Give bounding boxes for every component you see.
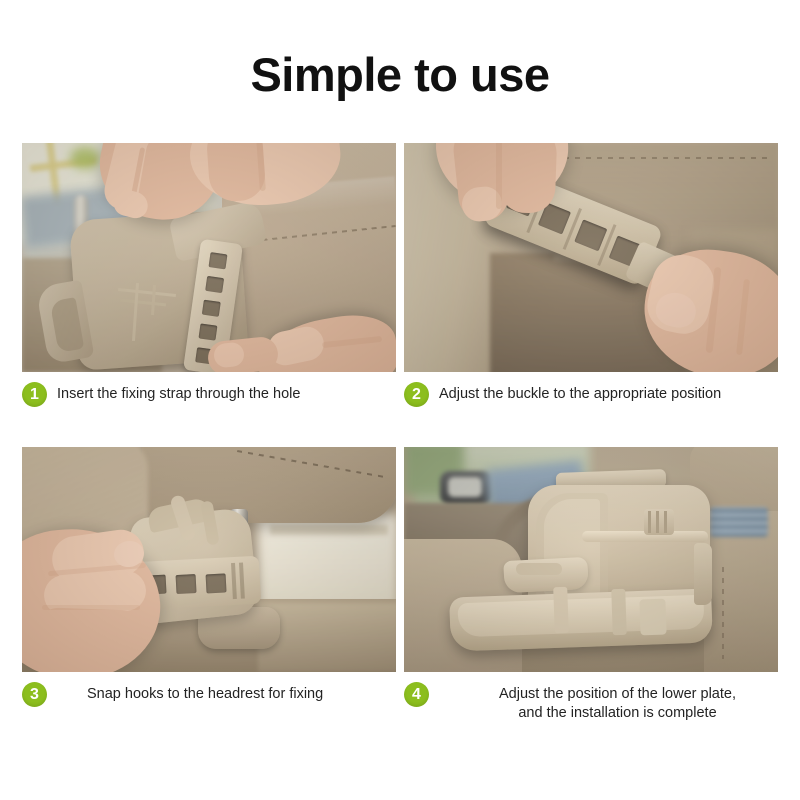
step-3-photo xyxy=(22,447,396,672)
step-1-caption-text: Insert the fixing strap through the hole xyxy=(57,382,300,404)
step-4-caption-text: Adjust the position of the lower plate, … xyxy=(439,682,778,723)
step-2-photo xyxy=(404,143,778,372)
product-instruction-page: Simple to use xyxy=(0,0,800,800)
step-2-caption-text: Adjust the buckle to the appropriate pos… xyxy=(439,382,721,404)
step-4-badge: 4 xyxy=(404,682,429,707)
step-1-photo xyxy=(22,143,396,372)
step-1-badge: 1 xyxy=(22,382,47,407)
step-1-caption: 1 Insert the fixing strap through the ho… xyxy=(22,372,396,428)
step-3-badge: 3 xyxy=(22,682,47,707)
page-title: Simple to use xyxy=(0,48,800,102)
step-4-caption-line-2: and the installation is complete xyxy=(467,704,768,723)
step-2-caption: 2 Adjust the buckle to the appropriate p… xyxy=(404,372,778,428)
step-4: 4 Adjust the position of the lower plate… xyxy=(404,447,778,728)
steps-row-1: 1 Insert the fixing strap through the ho… xyxy=(22,143,778,428)
step-2-badge: 2 xyxy=(404,382,429,407)
step-4-photo xyxy=(404,447,778,672)
steps-row-2: 3 Snap hooks to the headrest for fixing xyxy=(22,447,778,728)
step-3-caption-text: Snap hooks to the headrest for fixing xyxy=(87,682,323,704)
step-2: 2 Adjust the buckle to the appropriate p… xyxy=(404,143,778,428)
step-4-caption-line-1: Adjust the position of the lower plate, xyxy=(467,685,768,704)
step-3: 3 Snap hooks to the headrest for fixing xyxy=(22,447,396,728)
step-4-caption: 4 Adjust the position of the lower plate… xyxy=(404,672,778,728)
step-3-caption: 3 Snap hooks to the headrest for fixing xyxy=(22,672,396,728)
steps-grid: 1 Insert the fixing strap through the ho… xyxy=(22,143,778,728)
step-1: 1 Insert the fixing strap through the ho… xyxy=(22,143,396,428)
